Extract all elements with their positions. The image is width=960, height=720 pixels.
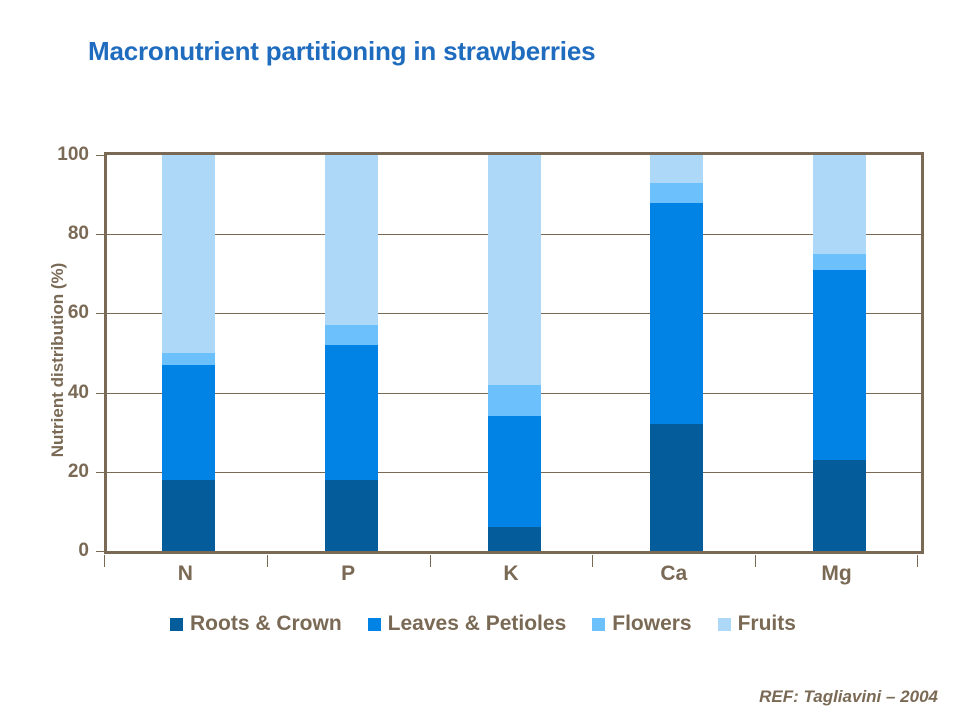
x-axis-category-label: Ca <box>594 562 754 586</box>
y-axis-tick-label: 100 <box>57 144 89 166</box>
bar-segment[interactable] <box>650 183 703 203</box>
plot-inner: 020406080100 <box>107 155 921 551</box>
bar-segment[interactable] <box>325 155 378 325</box>
bar-segment[interactable] <box>813 270 866 460</box>
legend-item[interactable]: Flowers <box>592 612 691 636</box>
x-axis-category-label: N <box>105 562 265 586</box>
y-axis-title: Nutrient distribution (%) <box>48 210 68 510</box>
bar-segment[interactable] <box>488 527 541 551</box>
legend-item[interactable]: Roots & Crown <box>170 612 342 636</box>
y-axis-tick-label: 20 <box>68 461 89 483</box>
x-axis-category-label: Mg <box>757 562 917 586</box>
page-title: Macronutrient partitioning in strawberri… <box>88 36 595 67</box>
y-axis-tick <box>96 234 104 235</box>
legend-label: Leaves & Petioles <box>388 612 567 636</box>
plot-area: 020406080100 <box>104 152 924 554</box>
bar-segment[interactable] <box>488 416 541 527</box>
y-axis-tick <box>96 472 104 473</box>
legend-swatch-icon <box>170 618 183 631</box>
bar-segment[interactable] <box>162 480 215 551</box>
bar-segment[interactable] <box>813 460 866 551</box>
y-axis-tick-label: 80 <box>68 223 89 245</box>
bar-segment[interactable] <box>325 325 378 345</box>
bar-segment[interactable] <box>650 155 703 183</box>
legend-label: Roots & Crown <box>190 612 342 636</box>
bar-group[interactable] <box>488 155 541 551</box>
x-axis-category-label: P <box>268 562 428 586</box>
bar-group[interactable] <box>325 155 378 551</box>
x-axis-category-label: K <box>431 562 591 586</box>
y-axis-tick <box>96 313 104 314</box>
bar-group[interactable] <box>650 155 703 551</box>
y-axis-tick-label: 40 <box>68 382 89 404</box>
bar-segment[interactable] <box>813 254 866 270</box>
bar-segment[interactable] <box>162 353 215 365</box>
bar-segment[interactable] <box>325 480 378 551</box>
legend-swatch-icon <box>592 618 605 631</box>
legend-swatch-icon <box>368 618 381 631</box>
chart-legend: Roots & CrownLeaves & PetiolesFlowersFru… <box>170 612 796 636</box>
y-axis-tick <box>96 551 104 552</box>
bar-segment[interactable] <box>813 155 866 254</box>
bar-segment[interactable] <box>650 203 703 425</box>
legend-item[interactable]: Fruits <box>718 612 796 636</box>
y-axis-tick-label: 60 <box>68 302 89 324</box>
bar-group[interactable] <box>162 155 215 551</box>
legend-label: Fruits <box>738 612 796 636</box>
y-axis-tick-label: 0 <box>78 540 89 562</box>
bar-segment[interactable] <box>488 155 541 385</box>
y-axis-tick <box>96 393 104 394</box>
reference-note: REF: Tagliavini – 2004 <box>759 687 938 707</box>
y-axis-tick <box>96 155 104 156</box>
bar-segment[interactable] <box>325 345 378 480</box>
legend-swatch-icon <box>718 618 731 631</box>
bar-segment[interactable] <box>488 385 541 417</box>
bar-segment[interactable] <box>162 155 215 353</box>
bar-segment[interactable] <box>162 365 215 480</box>
bar-segment[interactable] <box>650 424 703 551</box>
bar-group[interactable] <box>813 155 866 551</box>
legend-label: Flowers <box>612 612 691 636</box>
legend-item[interactable]: Leaves & Petioles <box>368 612 567 636</box>
x-axis-separator <box>917 555 918 567</box>
